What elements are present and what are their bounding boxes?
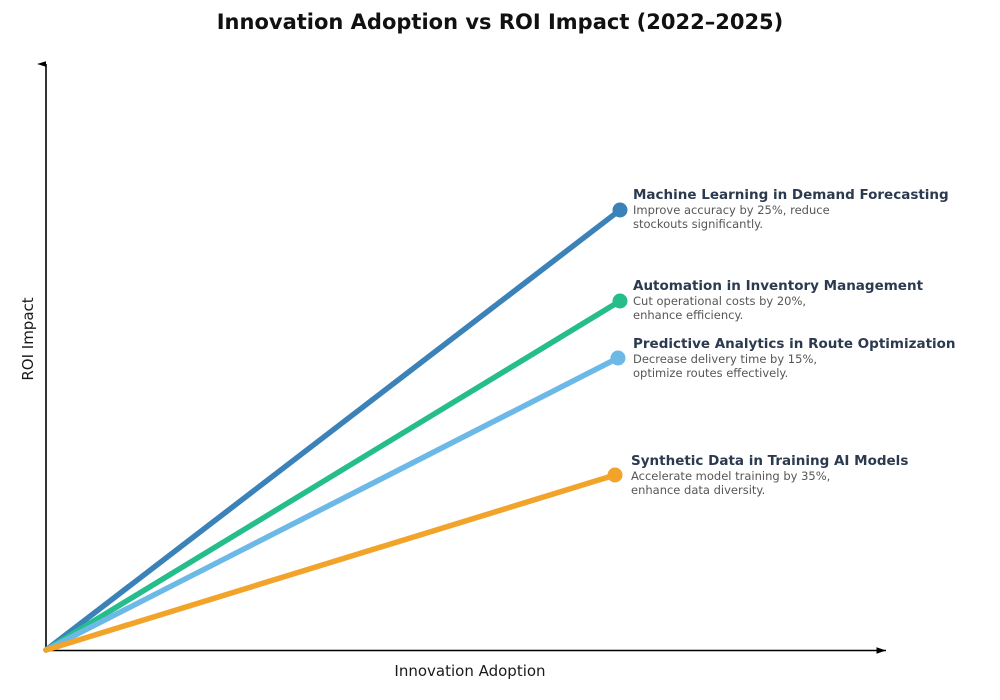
annotation-synthetic-data-in-training-ai-models: Synthetic Data in Training AI Models Acc… <box>631 453 991 497</box>
annotation-title: Automation in Inventory Management <box>633 278 993 294</box>
annotation-description: Improve accuracy by 25%, reduce stockout… <box>633 204 993 231</box>
series-line-predictive-analytics-in-route-optimization <box>46 358 618 650</box>
series-line-automation-in-inventory-management <box>46 301 620 650</box>
annotation-description-line-2: enhance data diversity. <box>631 484 991 498</box>
annotation-predictive-analytics-in-route-optimization: Predictive Analytics in Route Optimizati… <box>633 336 993 380</box>
series-line-synthetic-data-in-training-ai-models <box>46 475 615 650</box>
annotation-description: Decrease delivery time by 15%, optimize … <box>633 353 993 380</box>
annotation-description: Accelerate model training by 35%, enhanc… <box>631 470 991 497</box>
endpoint-marker-machine-learning-in-demand-forecasting[interactable] <box>613 203 628 218</box>
annotation-description-line-1: Accelerate model training by 35%, <box>631 470 991 484</box>
series-group <box>46 210 620 650</box>
annotation-description: Cut operational costs by 20%, enhance ef… <box>633 295 993 322</box>
annotation-description-line-1: Improve accuracy by 25%, reduce <box>633 204 993 218</box>
annotation-title: Predictive Analytics in Route Optimizati… <box>633 336 993 352</box>
x-axis-label: Innovation Adoption <box>45 662 895 680</box>
series-line-machine-learning-in-demand-forecasting <box>46 210 620 650</box>
annotation-automation-in-inventory-management: Automation in Inventory Management Cut o… <box>633 278 993 322</box>
annotation-description-line-1: Cut operational costs by 20%, <box>633 295 993 309</box>
endpoint-marker-automation-in-inventory-management[interactable] <box>613 294 628 309</box>
annotation-description-line-1: Decrease delivery time by 15%, <box>633 353 993 367</box>
endpoint-marker-group <box>608 203 628 483</box>
annotation-description-line-2: enhance efficiency. <box>633 309 993 323</box>
endpoint-marker-synthetic-data-in-training-ai-models[interactable] <box>608 468 623 483</box>
annotation-title: Synthetic Data in Training AI Models <box>631 453 991 469</box>
chart-container: Innovation Adoption vs ROI Impact (2022–… <box>0 0 1000 700</box>
annotation-machine-learning-in-demand-forecasting: Machine Learning in Demand Forecasting I… <box>633 187 993 231</box>
y-axis-label: ROI Impact <box>19 259 37 419</box>
annotation-description-line-2: optimize routes effectively. <box>633 367 993 381</box>
annotation-title: Machine Learning in Demand Forecasting <box>633 187 993 203</box>
annotation-description-line-2: stockouts significantly. <box>633 218 993 232</box>
endpoint-marker-predictive-analytics-in-route-optimization[interactable] <box>611 351 626 366</box>
